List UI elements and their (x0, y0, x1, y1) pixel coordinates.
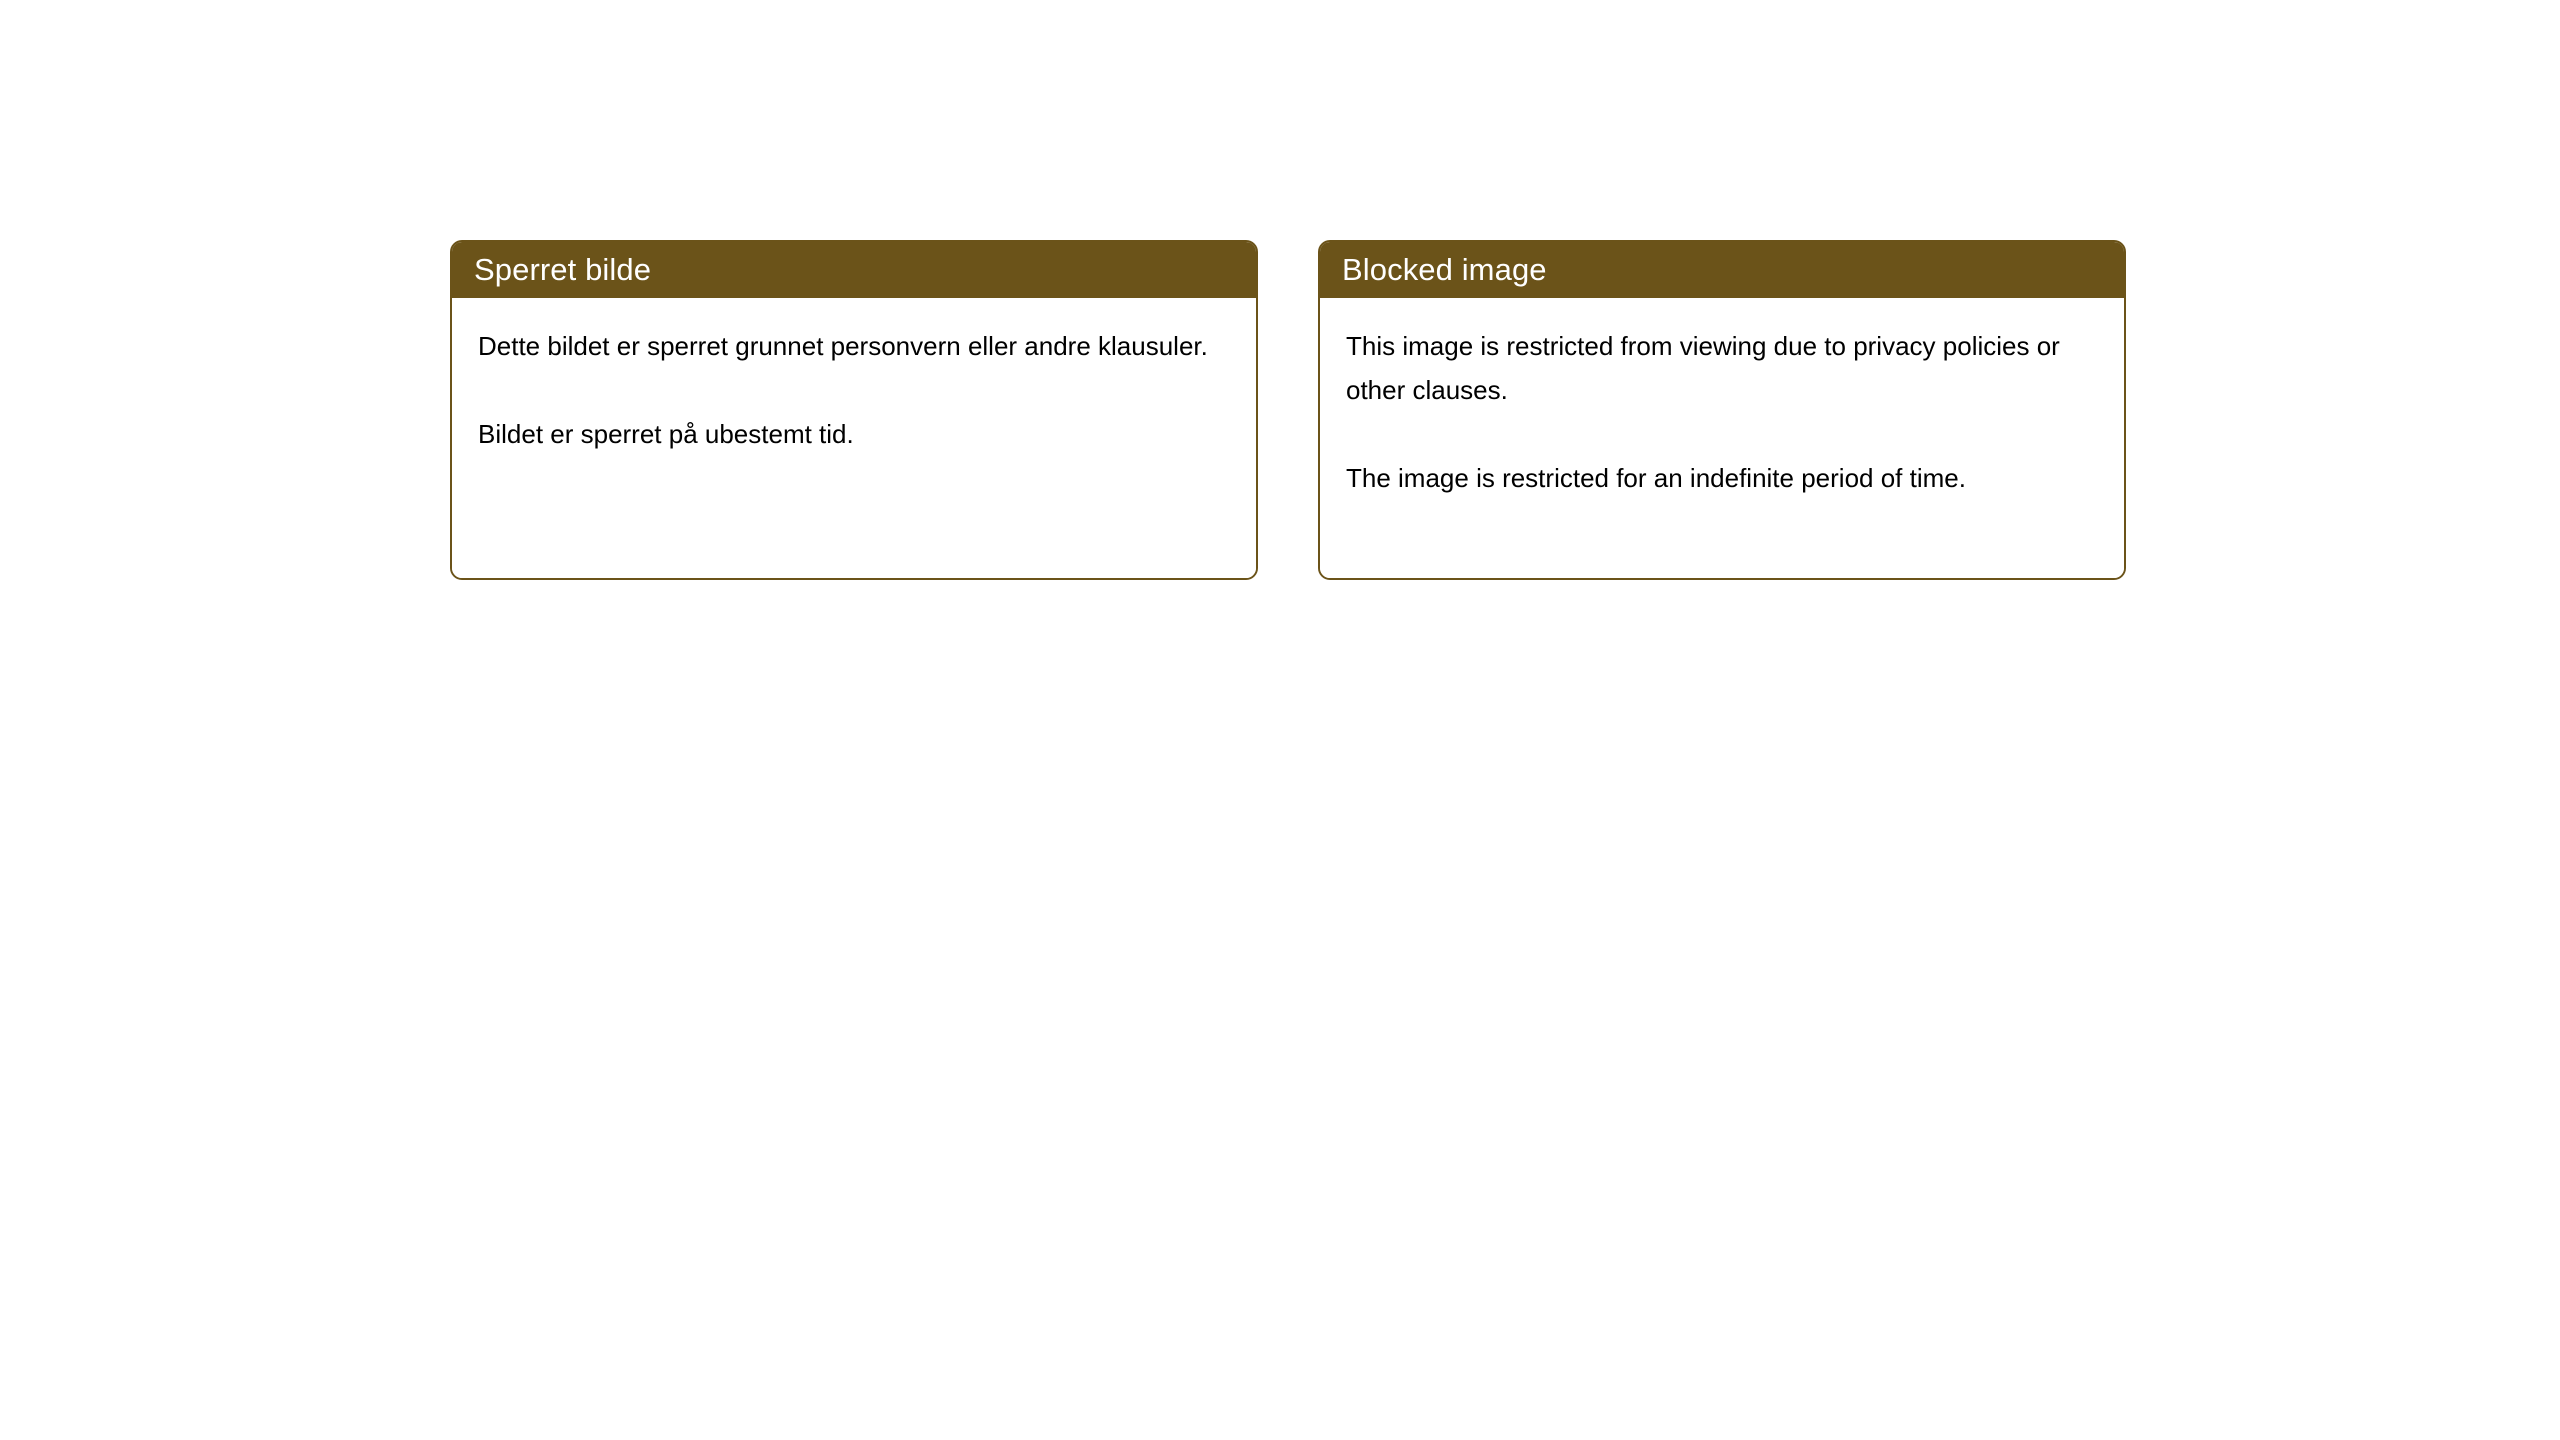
notice-cards-container: Sperret bilde Dette bildet er sperret gr… (450, 240, 2126, 580)
page-root: Sperret bilde Dette bildet er sperret gr… (0, 0, 2560, 1440)
notice-card-header-english: Blocked image (1318, 240, 2126, 298)
paragraph-spacer (478, 368, 1230, 412)
paragraph-spacer (1346, 412, 2098, 456)
notice-card-title-norwegian: Sperret bilde (474, 254, 651, 285)
notice-paragraph-primary-english: This image is restricted from viewing du… (1346, 324, 2098, 412)
notice-card-title-english: Blocked image (1342, 254, 1547, 285)
notice-paragraph-secondary-norwegian: Bildet er sperret på ubestemt tid. (478, 412, 1230, 456)
notice-card-header-norwegian: Sperret bilde (450, 240, 1258, 298)
notice-paragraph-secondary-english: The image is restricted for an indefinit… (1346, 456, 2098, 500)
notice-paragraph-primary-norwegian: Dette bildet er sperret grunnet personve… (478, 324, 1230, 368)
notice-card-body-norwegian: Dette bildet er sperret grunnet personve… (452, 298, 1256, 578)
notice-card-english: Blocked image This image is restricted f… (1318, 240, 2126, 580)
notice-card-body-english: This image is restricted from viewing du… (1320, 298, 2124, 578)
notice-card-norwegian: Sperret bilde Dette bildet er sperret gr… (450, 240, 1258, 580)
